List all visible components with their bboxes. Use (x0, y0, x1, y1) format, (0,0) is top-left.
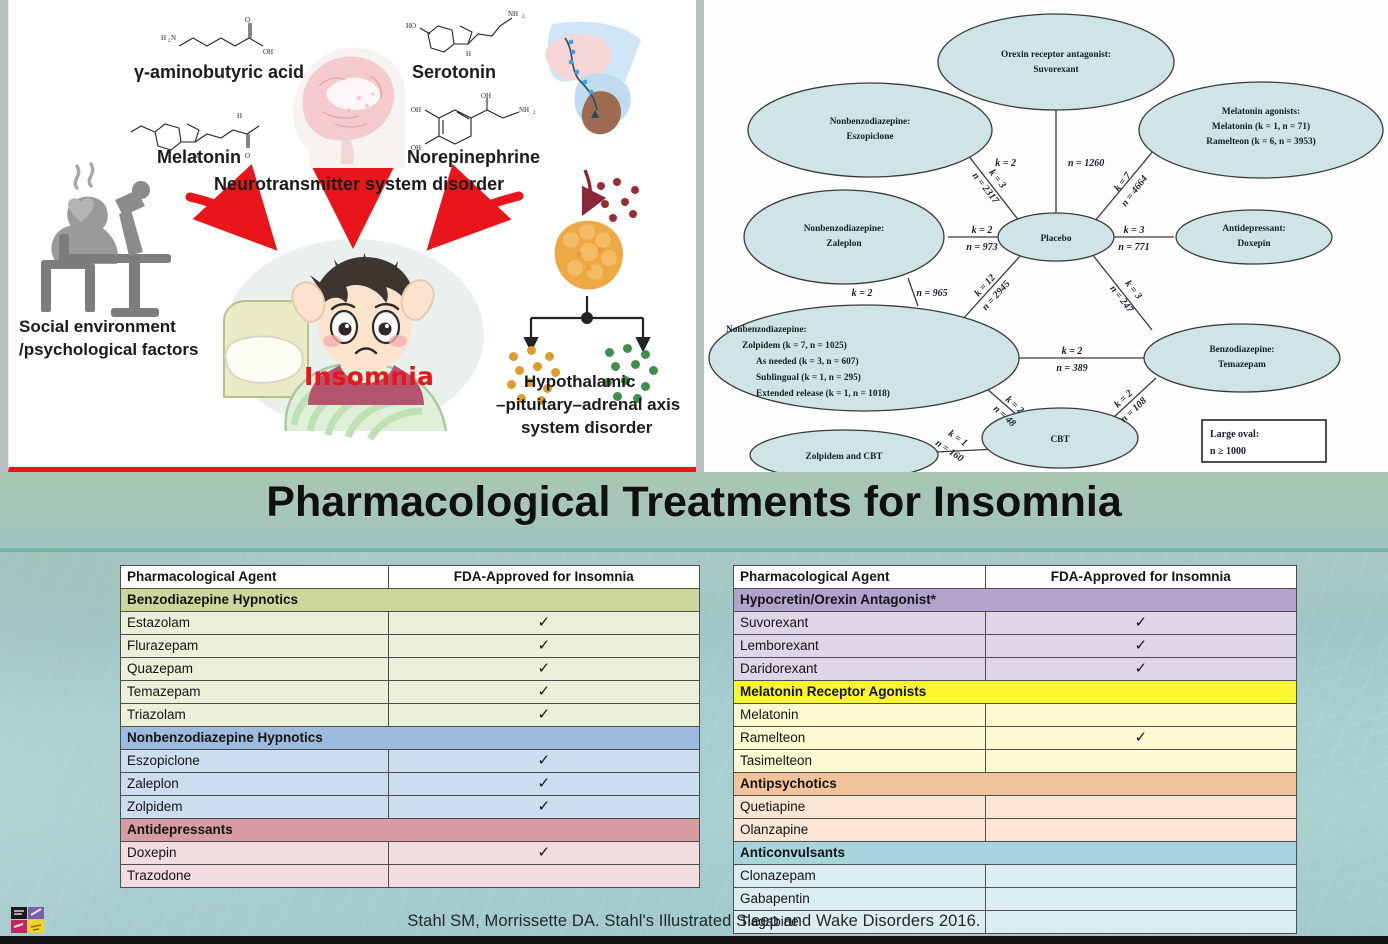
adrenal-gland-illustration (545, 210, 635, 300)
fda-approved-cell (388, 865, 699, 888)
table-row: Gabapentin (734, 888, 1297, 911)
network-meta-analysis-diagram: Orexin receptor antagonist: Suvorexant N… (704, 0, 1388, 472)
table-header-row: Pharmacological Agent FDA-Approved for I… (121, 566, 700, 589)
table-row: Quazepam✓ (121, 658, 700, 681)
social-environment-label-line2: /psychological factors (19, 340, 199, 359)
svg-text:Zolpidem (k = 7, n = 1025): Zolpidem (k = 7, n = 1025) (742, 340, 847, 351)
table-row: Temazepam✓ (121, 681, 700, 704)
group-label: Nonbenzodiazepine Hypnotics (121, 727, 700, 750)
agent-name-cell: Quazepam (121, 658, 389, 681)
fda-approved-check-icon: ✓ (388, 681, 699, 704)
svg-text:Temazepam: Temazepam (1218, 360, 1266, 370)
node-zaleplon: Nonbenzodiazepine: (804, 224, 885, 234)
hpa-axis-label-line1: Hypothalamic (524, 372, 635, 391)
insomnia-pathophysiology-figure: H 2 N O OH HO NH (8, 0, 696, 472)
page-title: Pharmacological Treatments for Insomnia (0, 478, 1388, 527)
melatonin-label: Melatonin (157, 147, 241, 167)
table-pharmacological-agents-right: Pharmacological Agent FDA-Approved for I… (733, 565, 1297, 934)
node-zolpidem-cbt: Zolpidem and CBT (806, 452, 884, 462)
fda-approved-cell (985, 819, 1296, 842)
table-left-body: Benzodiazepine HypnoticsEstazolam✓Fluraz… (121, 589, 700, 888)
agent-name-cell: Tasimelteon (734, 750, 986, 773)
svg-text:Suvorexant: Suvorexant (1033, 65, 1079, 75)
table-row: Lemborexant✓ (734, 635, 1297, 658)
svg-text:Melatonin (k = 1, n = 71): Melatonin (k = 1, n = 71) (1212, 121, 1310, 132)
stressed-person-at-desk-illustration (33, 160, 193, 320)
group-label: Anticonvulsants (734, 842, 1297, 865)
table-header-row: Pharmacological Agent FDA-Approved for I… (734, 566, 1297, 589)
table-row: Daridorexant✓ (734, 658, 1297, 681)
table-row: Eszopiclone✓ (121, 750, 700, 773)
svg-text:Sublingual (k = 1, n = 295): Sublingual (k = 1, n = 295) (756, 372, 861, 383)
table-row: Triazolam✓ (121, 704, 700, 727)
svg-text:Eszopiclone: Eszopiclone (846, 132, 893, 142)
node-doxepin: Antidepressant: (1222, 224, 1285, 234)
fda-approved-check-icon: ✓ (985, 635, 1296, 658)
agent-name-cell: Quetiapine (734, 796, 986, 819)
agent-name-cell: Trazodone (121, 865, 389, 888)
screenshot-root: H 2 N O OH HO NH (0, 0, 1388, 944)
agent-name-cell: Doxepin (121, 842, 389, 865)
table-group-row: Antipsychotics (734, 773, 1297, 796)
svg-text:k = 3: k = 3 (1124, 225, 1145, 236)
fda-approved-check-icon: ✓ (985, 727, 1296, 750)
agent-name-cell: Zolpidem (121, 796, 389, 819)
insomnia-child-in-bed-illustration (214, 225, 484, 460)
fda-approved-cell (985, 750, 1296, 773)
svg-text:OH: OH (263, 48, 273, 56)
hpa-axis-label-line2: –pituitary–adrenal axis (496, 395, 680, 414)
group-label: Antidepressants (121, 819, 700, 842)
svg-text:n = 965: n = 965 (916, 288, 947, 299)
node-melatonin-agonists: Melatonin agonists: (1222, 107, 1300, 117)
table-group-row: Nonbenzodiazepine Hypnotics (121, 727, 700, 750)
hypothalamus-pituitary-illustration (529, 18, 649, 168)
column-header-agent: Pharmacological Agent (734, 566, 986, 589)
title-divider (0, 548, 1388, 552)
table-group-row: Benzodiazepine Hypnotics (121, 589, 700, 612)
svg-text:H: H (237, 112, 242, 120)
table-group-row: Melatonin Receptor Agonists (734, 681, 1297, 704)
svg-text:Nonbenzodiazepine:: Nonbenzodiazepine: (726, 325, 807, 335)
svg-text:O: O (245, 152, 250, 160)
norepinephrine-label: Norepinephrine (407, 147, 540, 167)
svg-text:n = 389: n = 389 (1056, 363, 1087, 374)
fda-approved-cell (985, 865, 1296, 888)
svg-text:O: O (245, 16, 250, 24)
table-row: Zaleplon✓ (121, 773, 700, 796)
table-group-row: Anticonvulsants (734, 842, 1297, 865)
group-label: Hypocretin/Orexin Antagonist* (734, 589, 1297, 612)
svg-text:Extended release (k = 1, n = 1: Extended release (k = 1, n = 1018) (756, 388, 890, 399)
group-label: Antipsychotics (734, 773, 1297, 796)
table-row: Tasimelteon (734, 750, 1297, 773)
node-cbt: CBT (1050, 435, 1070, 445)
node-suvorexant: Orexin receptor antagonist: (1001, 50, 1111, 60)
social-environment-label-line1: Social environment (19, 317, 176, 336)
brain-illustration (275, 28, 415, 168)
table-group-row: Antidepressants (121, 819, 700, 842)
svg-text:Zaleplon: Zaleplon (826, 239, 862, 249)
svg-text:Ramelteon (k = 6, n = 3953): Ramelteon (k = 6, n = 3953) (1206, 136, 1316, 147)
column-header-agent: Pharmacological Agent (121, 566, 389, 589)
fda-approved-check-icon: ✓ (388, 750, 699, 773)
table-right-body: Hypocretin/Orexin Antagonist*Suvorexant✓… (734, 589, 1297, 934)
network-graph: Orexin receptor antagonist: Suvorexant N… (704, 0, 1388, 472)
table-row: Trazodone (121, 865, 700, 888)
table-row: Doxepin✓ (121, 842, 700, 865)
agent-name-cell: Clonazepam (734, 865, 986, 888)
network-legend: Large oval: n ≥ 1000 (1202, 420, 1326, 462)
fda-approved-check-icon: ✓ (388, 635, 699, 658)
svg-text:2: 2 (522, 15, 525, 20)
table-row: Ramelteon✓ (734, 727, 1297, 750)
svg-text:Doxepin: Doxepin (1237, 239, 1271, 249)
table-row: Zolpidem✓ (121, 796, 700, 819)
source-citation: Stahl SM, Morrissette DA. Stahl's Illust… (0, 912, 1388, 931)
serotonin-label: Serotonin (412, 62, 496, 82)
svg-text:H: H (466, 50, 471, 58)
svg-text:Large oval:: Large oval: (1210, 429, 1259, 440)
agent-name-cell: Suvorexant (734, 612, 986, 635)
top-image-band: H 2 N O OH HO NH (0, 0, 1388, 472)
agent-name-cell: Daridorexant (734, 658, 986, 681)
fda-approved-check-icon: ✓ (388, 658, 699, 681)
hpa-axis-label-line3: system disorder (521, 418, 652, 437)
fda-approved-check-icon: ✓ (985, 612, 1296, 635)
svg-text:k = 2: k = 2 (1062, 346, 1083, 357)
group-label: Benzodiazepine Hypnotics (121, 589, 700, 612)
column-header-fda: FDA-Approved for Insomnia (388, 566, 699, 589)
fda-approved-check-icon: ✓ (388, 612, 699, 635)
agent-name-cell: Estazolam (121, 612, 389, 635)
table-row: Flurazepam✓ (121, 635, 700, 658)
table-row: Suvorexant✓ (734, 612, 1297, 635)
fda-approved-check-icon: ✓ (388, 796, 699, 819)
svg-text:n = 1260: n = 1260 (1068, 158, 1104, 169)
agent-name-cell: Ramelteon (734, 727, 986, 750)
fda-approved-cell (985, 704, 1296, 727)
gaba-label: γ-aminobutyric acid (134, 62, 304, 82)
svg-text:As needed (k = 3, n = 607): As needed (k = 3, n = 607) (756, 356, 859, 367)
fda-approved-check-icon: ✓ (388, 773, 699, 796)
agent-name-cell: Eszopiclone (121, 750, 389, 773)
fda-approved-cell (985, 796, 1296, 819)
agent-name-cell: Flurazepam (121, 635, 389, 658)
agent-name-cell: Triazolam (121, 704, 389, 727)
agent-name-cell: Zaleplon (121, 773, 389, 796)
svg-text:n ≥ 1000: n ≥ 1000 (1210, 446, 1246, 457)
corner-logo-icon (10, 906, 46, 934)
node-eszopiclone: Nonbenzodiazepine: (830, 117, 911, 127)
agent-name-cell: Olanzapine (734, 819, 986, 842)
neurotransmitter-disorder-label: Neurotransmitter system disorder (214, 174, 504, 194)
svg-text:k = 2: k = 2 (995, 158, 1016, 169)
svg-text:k = 2: k = 2 (972, 225, 993, 236)
table-group-row: Hypocretin/Orexin Antagonist* (734, 589, 1297, 612)
agent-name-cell: Melatonin (734, 704, 986, 727)
table-row: Quetiapine (734, 796, 1297, 819)
svg-text:NH: NH (519, 106, 529, 114)
fda-approved-check-icon: ✓ (985, 658, 1296, 681)
fda-approved-check-icon: ✓ (388, 704, 699, 727)
agent-name-cell: Temazepam (121, 681, 389, 704)
fda-approved-cell (985, 888, 1296, 911)
svg-text:n = 771: n = 771 (1118, 242, 1149, 253)
svg-text:OH: OH (481, 92, 491, 100)
agent-name-cell: Lemborexant (734, 635, 986, 658)
table-row: Estazolam✓ (121, 612, 700, 635)
node-placebo: Placebo (1041, 234, 1072, 244)
svg-text:N: N (171, 34, 176, 42)
fda-approved-check-icon: ✓ (388, 842, 699, 865)
table-row: Melatonin (734, 704, 1297, 727)
group-label: Melatonin Receptor Agonists (734, 681, 1297, 704)
svg-text:NH: NH (508, 10, 518, 18)
node-temazepam: Benzodiazepine: (1209, 345, 1274, 355)
table-row: Olanzapine (734, 819, 1297, 842)
svg-text:k = 2: k = 2 (852, 288, 873, 299)
bottom-bar (0, 936, 1388, 944)
insomnia-label: Insomnia (304, 362, 434, 391)
svg-text:n = 973: n = 973 (966, 242, 997, 253)
agent-name-cell: Gabapentin (734, 888, 986, 911)
table-row: Clonazepam (734, 865, 1297, 888)
table-pharmacological-agents-left: Pharmacological Agent FDA-Approved for I… (120, 565, 700, 888)
svg-text:H: H (161, 34, 166, 42)
column-header-fda: FDA-Approved for Insomnia (985, 566, 1296, 589)
